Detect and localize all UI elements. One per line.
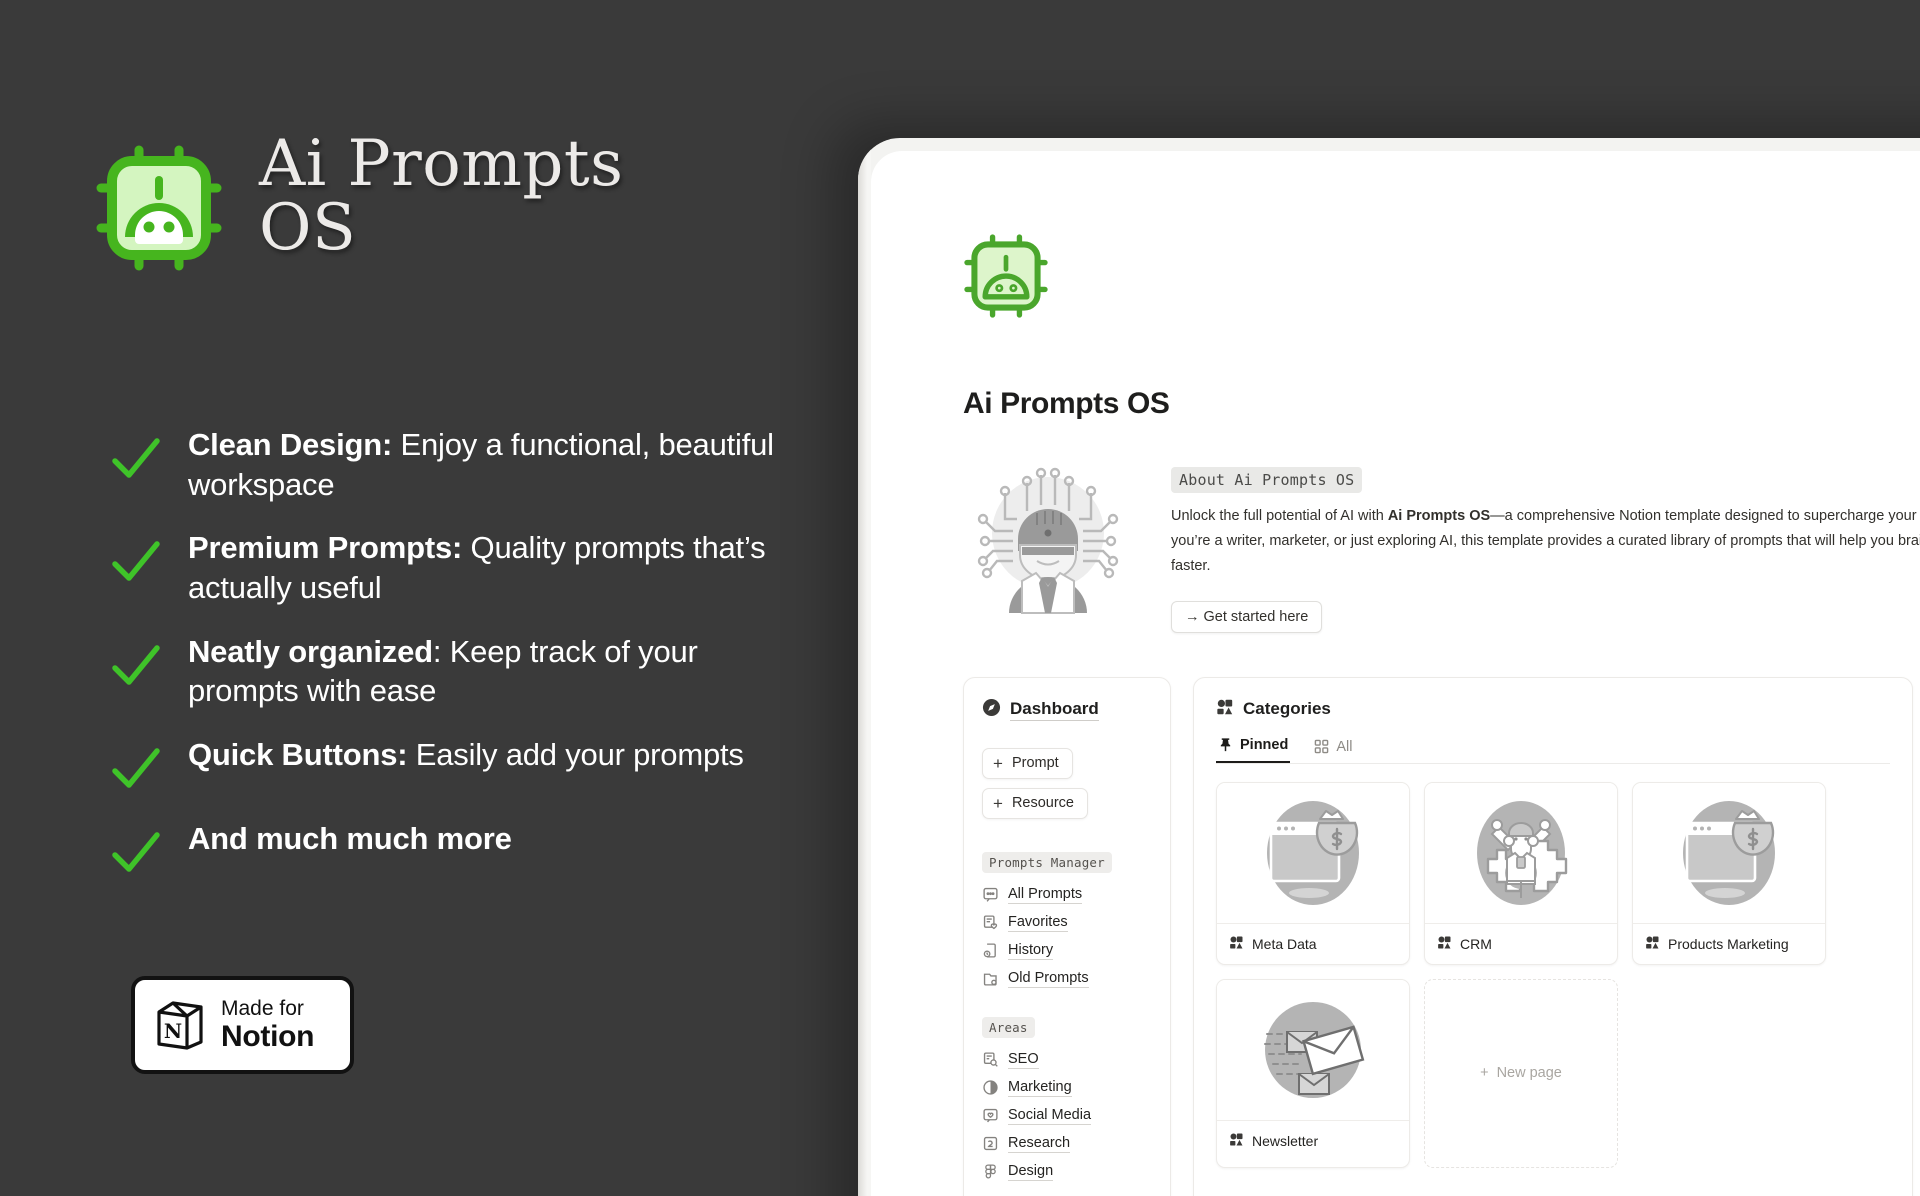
- dashboard-header[interactable]: Dashboard: [982, 698, 1152, 722]
- made-for-notion-badge: N Made for Notion: [131, 976, 354, 1074]
- sidebar-item-social-media[interactable]: Social Media: [982, 1102, 1152, 1130]
- about-body: About Ai Prompts OS Unlock the full pote…: [1171, 457, 1920, 633]
- categories-grid: Meta Data: [1216, 782, 1890, 1168]
- about-pre: Unlock the full potential of AI with: [1171, 508, 1388, 524]
- feature-item: And much much more: [110, 819, 790, 879]
- sidebar-item-marketing[interactable]: Marketing: [982, 1074, 1152, 1102]
- person-gear-illustration: [1425, 783, 1617, 923]
- sidebar-item-all-prompts[interactable]: All Prompts: [982, 881, 1152, 909]
- check-icon: [110, 640, 162, 692]
- about-paragraph: Unlock the full potential of AI with Ai …: [1171, 504, 1920, 579]
- feature-bold: Premium Prompts:: [188, 530, 462, 565]
- promo-panel: Ai Prompts OS Clean Design: Enjoy a func…: [0, 0, 880, 1196]
- feature-item: Neatly organized: Keep track of your pro…: [110, 632, 790, 711]
- pie-chart-icon: [982, 1079, 999, 1096]
- gallery-view-icon: [1229, 935, 1244, 953]
- notion-page: Ai Prompts OS: [871, 151, 1920, 1196]
- badge-line-made: Made for: [221, 998, 314, 1019]
- plus-icon: +: [993, 755, 1003, 772]
- sidebar-item-research[interactable]: Research: [982, 1130, 1152, 1158]
- sidebar-item-old-prompts[interactable]: Old Prompts: [982, 965, 1152, 993]
- brand-lockup: Ai Prompts OS: [95, 132, 729, 272]
- new-page-label: New page: [1497, 1065, 1562, 1081]
- browser-money-bag-illustration: [1633, 783, 1825, 923]
- category-label: Products Marketing: [1668, 936, 1789, 952]
- category-card[interactable]: Newsletter: [1216, 979, 1410, 1168]
- clock-doc-icon: [982, 942, 999, 959]
- category-card[interactable]: Products Marketing: [1632, 782, 1826, 965]
- category-label: Newsletter: [1252, 1133, 1318, 1149]
- sidebar-label: All Prompts: [1008, 886, 1082, 904]
- tab-label: All: [1336, 739, 1352, 755]
- ai-chip-robot-icon: [95, 144, 223, 272]
- pin-icon: [1218, 737, 1233, 752]
- feature-text: And much much more: [188, 819, 512, 859]
- compass-icon: [982, 698, 1001, 722]
- feature-item: Quick Buttons: Easily add your prompts: [110, 735, 790, 795]
- feature-text: Neatly organized: Keep track of your pro…: [188, 632, 790, 711]
- sidebar-label: Social Media: [1008, 1107, 1091, 1125]
- notion-badge-text: Made for Notion: [221, 998, 314, 1052]
- category-label: CRM: [1460, 936, 1492, 952]
- feature-text: Premium Prompts: Quality prompts that’s …: [188, 528, 790, 607]
- about-section: About Ai Prompts OS Unlock the full pote…: [963, 457, 1920, 633]
- categories-panel: Categories Pinned: [1193, 677, 1913, 1196]
- about-bold: Ai Prompts OS: [1388, 508, 1490, 524]
- categories-title: Categories: [1243, 699, 1331, 719]
- envelopes-illustration: [1217, 980, 1409, 1120]
- badge-line-notion: Notion: [221, 1022, 314, 1052]
- sidebar-label: Old Prompts: [1008, 970, 1089, 988]
- feature-list: Clean Design: Enjoy a functional, beauti…: [110, 425, 790, 903]
- heart-chat-icon: [982, 1107, 999, 1124]
- feature-item: Premium Prompts: Quality prompts that’s …: [110, 528, 790, 607]
- feature-bold: Quick Buttons:: [188, 737, 407, 772]
- brand-title: Ai Prompts OS: [259, 132, 729, 260]
- page-title: Ai Prompts OS: [963, 387, 1920, 421]
- ai-chip-robot-icon: [963, 233, 1049, 319]
- notion-cube-icon: N: [153, 998, 207, 1052]
- category-card-footer: CRM: [1425, 923, 1617, 964]
- feature-bold: And much much more: [188, 821, 512, 856]
- feature-item: Clean Design: Enjoy a functional, beauti…: [110, 425, 790, 504]
- category-label: Meta Data: [1252, 936, 1317, 952]
- archive-doc-icon: [982, 970, 999, 987]
- sidebar-label: History: [1008, 942, 1053, 960]
- get-started-button[interactable]: → Get started here: [1171, 601, 1322, 633]
- feature-text: Quick Buttons: Easily add your prompts: [188, 735, 744, 775]
- check-icon: [110, 536, 162, 588]
- promo-composition: Ai Prompts OS Clean Design: Enjoy a func…: [0, 0, 1920, 1196]
- gallery-view-icon: [1229, 1132, 1244, 1150]
- notion-app-screen: Ai Prompts OS: [871, 151, 1920, 1196]
- tab-all[interactable]: All: [1312, 739, 1354, 763]
- category-card-footer: Products Marketing: [1633, 923, 1825, 964]
- chat-bubble-icon: [982, 886, 999, 903]
- add-prompt-button[interactable]: +Prompt: [982, 748, 1073, 779]
- new-page-button[interactable]: + New page: [1424, 979, 1618, 1168]
- dashboard-title: Dashboard: [1010, 699, 1099, 721]
- categories-tabs: Pinned All: [1216, 737, 1890, 764]
- sidebar-label: Design: [1008, 1163, 1053, 1181]
- add-prompt-label: Prompt: [1012, 755, 1059, 771]
- gallery-view-icon: [1437, 935, 1452, 953]
- tab-pinned[interactable]: Pinned: [1216, 737, 1290, 763]
- sidebar-item-history[interactable]: History: [982, 937, 1152, 965]
- category-card[interactable]: Meta Data: [1216, 782, 1410, 965]
- about-tag: About Ai Prompts OS: [1171, 467, 1362, 493]
- category-card-footer: Newsletter: [1217, 1120, 1409, 1161]
- add-resource-label: Resource: [1012, 795, 1074, 811]
- sidebar-label: SEO: [1008, 1051, 1039, 1069]
- feature-bold: Neatly organized: [188, 634, 433, 669]
- feature-rest: Easily add your prompts: [407, 737, 743, 772]
- section-label-areas: Areas: [982, 1017, 1035, 1038]
- svg-text:N: N: [164, 1019, 182, 1043]
- plus-icon: +: [1480, 1065, 1488, 1081]
- sidebar-label: Research: [1008, 1135, 1070, 1153]
- check-icon: [110, 827, 162, 879]
- tab-label: Pinned: [1240, 737, 1288, 753]
- gallery-view-icon: [1645, 935, 1660, 953]
- sidebar-label: Favorites: [1008, 914, 1068, 932]
- flask-icon: [982, 1135, 999, 1152]
- categories-header: Categories: [1216, 698, 1890, 721]
- quick-buttons: +Prompt +Resource: [982, 748, 1152, 828]
- section-label-prompts-manager: Prompts Manager: [982, 852, 1112, 873]
- search-doc-icon: [982, 1051, 999, 1068]
- category-card[interactable]: CRM: [1424, 782, 1618, 965]
- feature-bold: Clean Design:: [188, 427, 392, 462]
- category-card-footer: Meta Data: [1217, 923, 1409, 964]
- plus-icon: +: [993, 795, 1003, 812]
- check-icon: [110, 433, 162, 485]
- grid-icon: [1314, 739, 1329, 754]
- sidebar-item-seo[interactable]: SEO: [982, 1046, 1152, 1074]
- gallery-view-icon: [1216, 698, 1234, 721]
- sidebar-label: Marketing: [1008, 1079, 1072, 1097]
- ai-head-circuit-illustration: [963, 461, 1133, 616]
- check-icon: [110, 743, 162, 795]
- sidebar-item-favorites[interactable]: Favorites: [982, 909, 1152, 937]
- add-resource-button[interactable]: +Resource: [982, 788, 1088, 819]
- feature-text: Clean Design: Enjoy a functional, beauti…: [188, 425, 790, 504]
- sidebar-item-design[interactable]: Design: [982, 1158, 1152, 1186]
- dashboard-panel: Dashboard +Prompt +Resource Prompts Mana…: [963, 677, 1171, 1196]
- browser-money-bag-illustration: [1217, 783, 1409, 923]
- heart-doc-icon: [982, 914, 999, 931]
- figma-icon: [982, 1163, 999, 1180]
- tablet-device-frame: Ai Prompts OS: [858, 138, 1920, 1196]
- page-columns: Dashboard +Prompt +Resource Prompts Mana…: [963, 677, 1920, 1196]
